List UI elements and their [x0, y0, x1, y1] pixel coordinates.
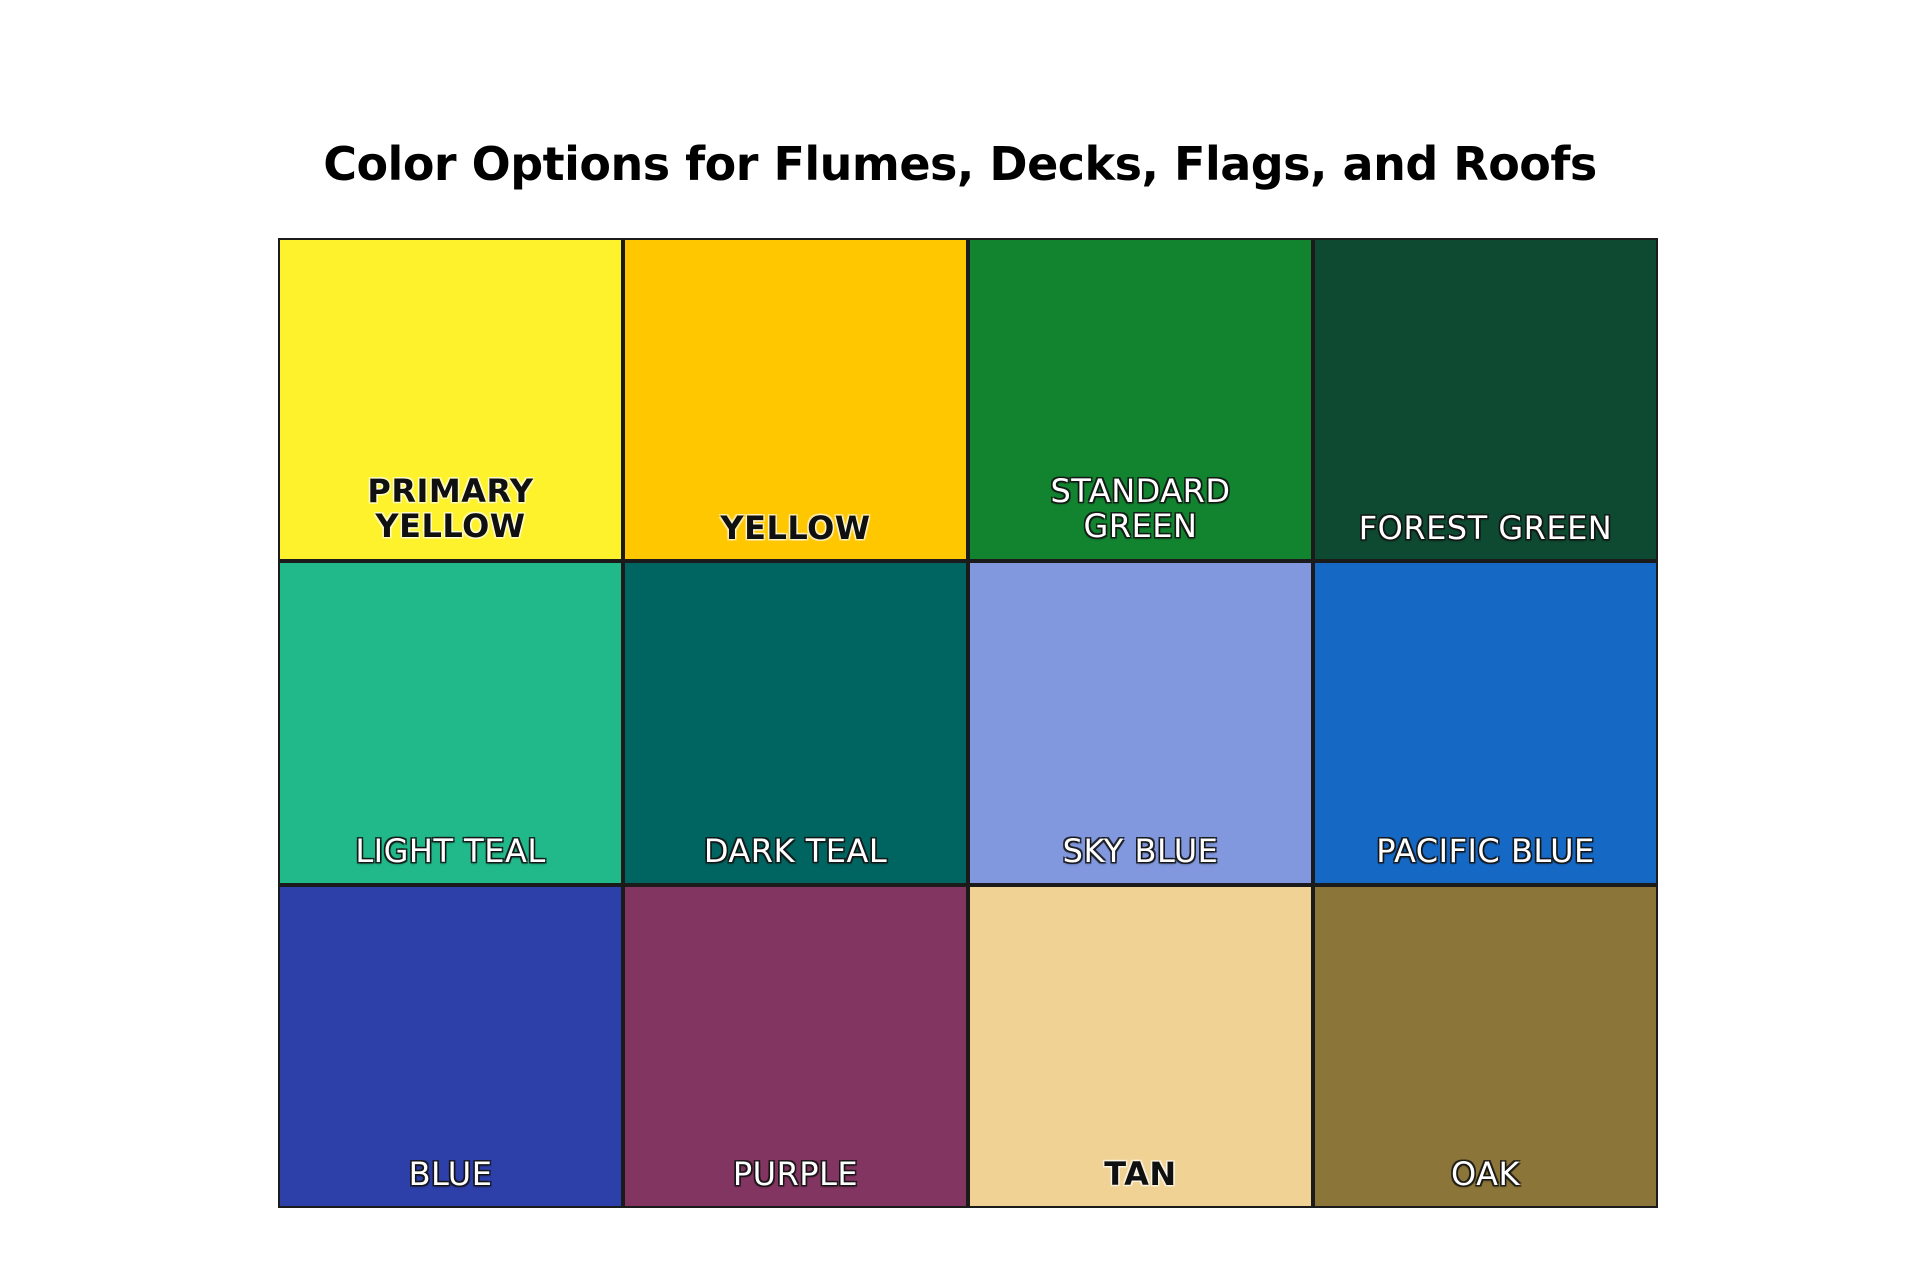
color-swatch-label: FOREST GREEN	[1315, 511, 1656, 560]
color-swatch[interactable]: DARK TEAL	[623, 561, 968, 884]
color-swatch[interactable]: YELLOW	[623, 238, 968, 561]
color-swatch[interactable]: FOREST GREEN	[1313, 238, 1658, 561]
color-swatch[interactable]: PACIFIC BLUE	[1313, 561, 1658, 884]
color-swatch-label: PACIFIC BLUE	[1315, 834, 1656, 883]
color-swatch[interactable]: STANDARD GREEN	[968, 238, 1313, 561]
color-swatch-label: TAN	[970, 1157, 1311, 1206]
color-swatch-label: OAK	[1315, 1157, 1656, 1206]
color-swatch-label: LIGHT TEAL	[280, 834, 621, 883]
color-swatch-label: PURPLE	[625, 1157, 966, 1206]
color-swatch-grid: PRIMARY YELLOWYELLOWSTANDARD GREENFOREST…	[278, 238, 1658, 1208]
color-swatch[interactable]: OAK	[1313, 885, 1658, 1208]
color-swatch[interactable]: PRIMARY YELLOW	[278, 238, 623, 561]
color-swatch[interactable]: LIGHT TEAL	[278, 561, 623, 884]
color-swatch[interactable]: PURPLE	[623, 885, 968, 1208]
page-title: Color Options for Flumes, Decks, Flags, …	[0, 137, 1920, 191]
color-options-page: Color Options for Flumes, Decks, Flags, …	[0, 0, 1920, 1280]
color-swatch[interactable]: SKY BLUE	[968, 561, 1313, 884]
color-swatch-label: YELLOW	[625, 511, 966, 560]
color-swatch-label: STANDARD GREEN	[970, 474, 1311, 559]
color-swatch-label: DARK TEAL	[625, 834, 966, 883]
color-swatch[interactable]: BLUE	[278, 885, 623, 1208]
color-swatch-label: PRIMARY YELLOW	[280, 474, 621, 559]
color-swatch[interactable]: TAN	[968, 885, 1313, 1208]
color-swatch-label: SKY BLUE	[970, 834, 1311, 883]
color-swatch-label: BLUE	[280, 1157, 621, 1206]
